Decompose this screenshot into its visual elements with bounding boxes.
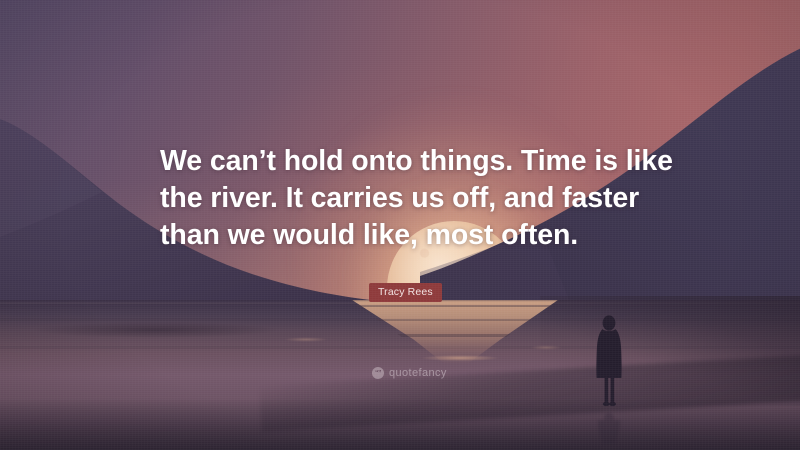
person-silhouette	[592, 312, 626, 416]
quote-line-3: than we would like, most often.	[160, 217, 800, 254]
person-reflection	[592, 412, 626, 448]
quote-poster: We can’t hold onto things. Time is like …	[0, 0, 800, 450]
quote-line-2: the river. It carries us off, and faster	[160, 180, 800, 217]
watermark: “” quotefancy	[372, 367, 447, 379]
author-attribution: Tracy Rees	[369, 283, 442, 302]
quote-block: We can’t hold onto things. Time is like …	[0, 0, 800, 254]
reflection-highlight-right	[524, 344, 568, 351]
quotefancy-badge-icon: “”	[372, 367, 384, 379]
reflection-highlight-left	[276, 336, 336, 343]
shoreline-left	[0, 318, 320, 342]
quote-line-1: We can’t hold onto things. Time is like	[160, 143, 800, 180]
reflection-sparkle	[400, 352, 520, 364]
foreground-shadow	[0, 398, 800, 450]
watermark-brand: quotefancy	[389, 367, 447, 379]
